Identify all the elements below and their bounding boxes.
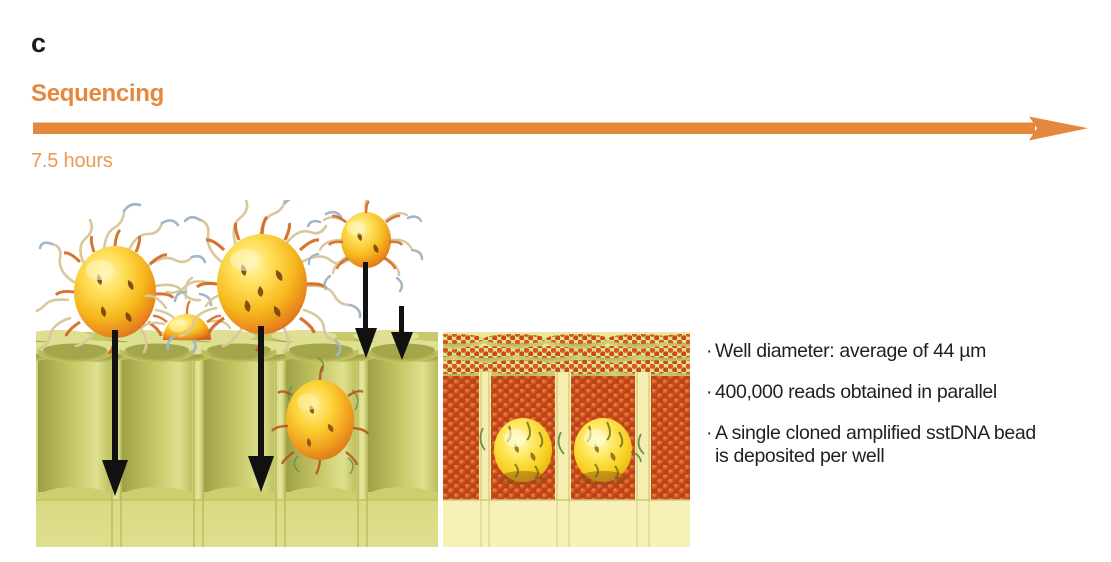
panel-label: c [31, 30, 46, 57]
stage-title: Sequencing [31, 82, 164, 106]
bead-deposition-panel [36, 200, 438, 547]
sstdna-bead-in-well-a [494, 418, 552, 485]
bullet-text: 400,000 reads obtained in parallel [715, 381, 997, 403]
bullet-marker-icon: · [706, 422, 712, 446]
timeline-arrow-icon [33, 115, 1088, 151]
bullet-marker-icon: · [706, 381, 712, 405]
bullet-text: A single cloned amplified sstDNA bead is… [715, 422, 1036, 468]
duration-label: 7.5 hours [31, 151, 113, 171]
bullet-item-reads-count: · 400,000 reads obtained in parallel [706, 381, 1036, 405]
bullet-marker-icon: · [706, 340, 712, 364]
facts-bullet-list: · Well diameter: average of 44 µm · 400,… [706, 340, 1036, 486]
well-cylinders [38, 350, 438, 509]
bullet-item-well-diameter: · Well diameter: average of 44 µm [706, 340, 1036, 364]
bullet-item-bead-per-well: · A single cloned amplified sstDNA bead … [706, 422, 1036, 470]
picotiter-plate-body [36, 340, 438, 547]
loaded-wells-panel [443, 332, 690, 547]
sstdna-bead-in-well-b [574, 418, 632, 485]
bullet-text: Well diameter: average of 44 µm [715, 340, 986, 362]
